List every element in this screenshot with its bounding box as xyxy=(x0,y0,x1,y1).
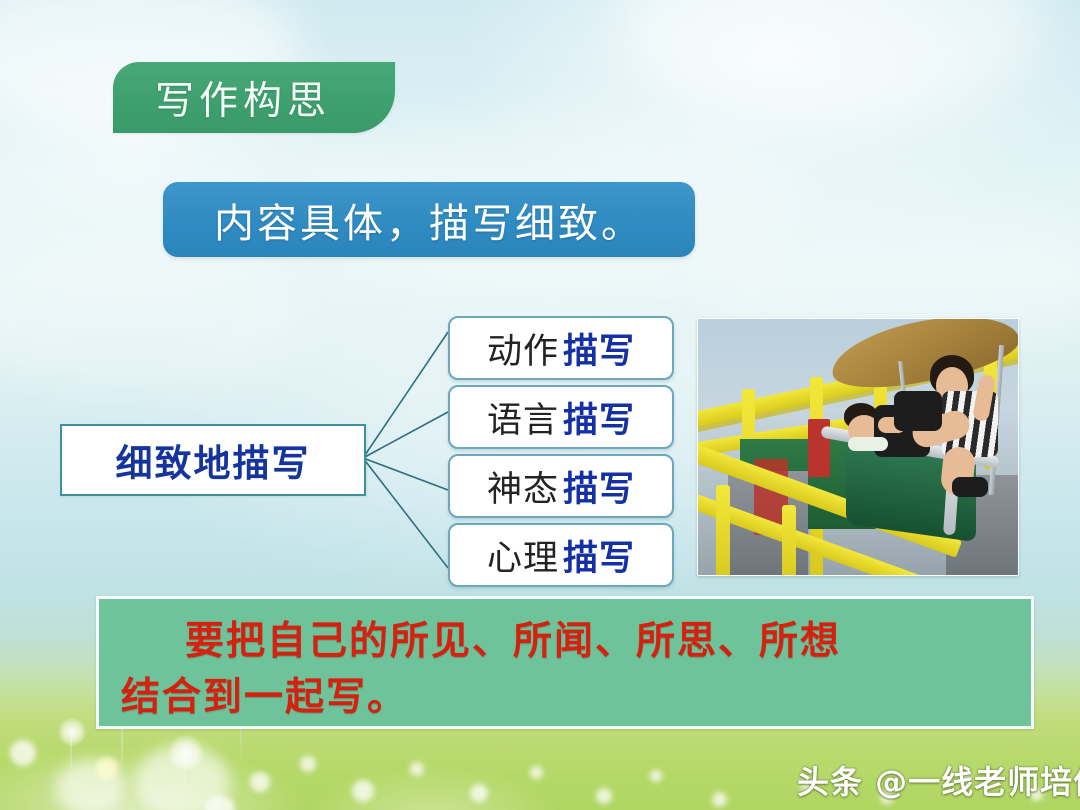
callout-box: 要把自己的所见、所闻、所思、所想 结合到一起写。 xyxy=(96,596,1034,729)
section-tab[interactable]: 写作构思 xyxy=(113,62,395,133)
bokeh-decoration xyxy=(55,760,125,810)
branch-prefix: 动作 xyxy=(487,323,559,374)
bokeh-decoration xyxy=(712,792,727,807)
bokeh-decoration xyxy=(470,784,488,802)
branch-prefix: 神态 xyxy=(487,461,559,512)
photo-adult-shoe xyxy=(952,477,988,497)
bokeh-decoration xyxy=(205,796,235,810)
bokeh-decoration xyxy=(96,757,118,779)
photo-foreground-post xyxy=(716,485,730,576)
branch-prefix: 心理 xyxy=(487,530,559,581)
callout-line-2: 结合到一起写。 xyxy=(121,674,408,720)
banner-blue: 内容具体，描写细致。 xyxy=(163,182,695,257)
diagram-branch-action[interactable]: 动作 描写 xyxy=(448,316,674,380)
callout-line-1: 要把自己的所见、所闻、所思、所想 xyxy=(185,618,841,664)
photo-child-collar xyxy=(848,437,888,451)
diagram-root-node[interactable]: 细致地描写 xyxy=(60,424,366,496)
branch-keyword: 描写 xyxy=(563,323,635,374)
diagram-branch-language[interactable]: 语言 描写 xyxy=(448,385,674,449)
branch-prefix: 语言 xyxy=(487,392,559,443)
photo-foreground-post xyxy=(782,505,796,576)
bokeh-decoration xyxy=(650,770,662,782)
cloud-decoration xyxy=(0,250,300,390)
watermark: 头条 @一线老师培优 xyxy=(797,757,1080,803)
roller-coaster-photo xyxy=(697,318,1019,576)
bokeh-decoration xyxy=(10,740,36,766)
bokeh-decoration xyxy=(596,788,612,804)
photo-adult-bag xyxy=(894,391,942,431)
bokeh-decoration xyxy=(352,780,374,802)
branch-keyword: 描写 xyxy=(563,530,635,581)
banner-text: 内容具体，描写细致。 xyxy=(214,191,644,249)
bokeh-decoration xyxy=(300,756,316,772)
bokeh-decoration xyxy=(530,766,543,779)
diagram-branch-psychology[interactable]: 心理 描写 xyxy=(448,523,674,587)
bokeh-decoration xyxy=(410,762,424,776)
diagram-root-label: 细致地描写 xyxy=(116,433,311,487)
bokeh-decoration xyxy=(135,745,230,810)
diagram-branch-expression[interactable]: 神态 描写 xyxy=(448,454,674,518)
slide-canvas: 写作构思 内容具体，描写细致。 细致地描写 动作 描写 语言 描写 神态 描写 … xyxy=(0,0,1080,810)
bokeh-decoration xyxy=(250,772,270,792)
callout-text: 要把自己的所见、所闻、所思、所想 结合到一起写。 xyxy=(121,613,1013,725)
branch-keyword: 描写 xyxy=(563,392,635,443)
cloud-decoration xyxy=(620,0,1040,120)
branch-keyword: 描写 xyxy=(563,461,635,512)
section-tab-label: 写作构思 xyxy=(155,70,331,126)
